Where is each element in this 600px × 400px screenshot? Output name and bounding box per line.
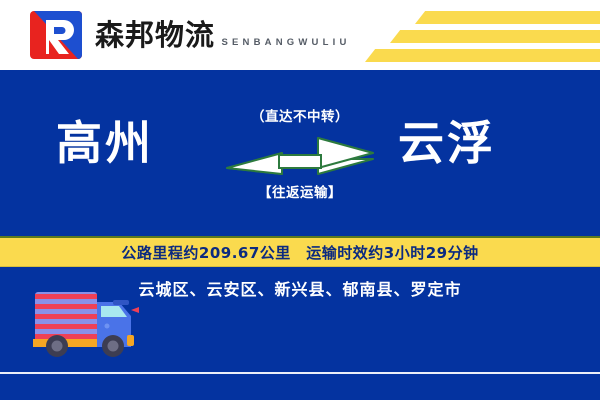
logistics-route-banner: 森邦物流 SENBANGWULIU 高州 （直达不中转） 【往返运输】 bbox=[0, 0, 600, 400]
banner-header: 森邦物流 SENBANGWULIU bbox=[0, 0, 600, 70]
brand-text: 森邦物流 SENBANGWULIU bbox=[95, 18, 351, 52]
senbang-r-logo-icon bbox=[28, 9, 84, 61]
brand-logo: 森邦物流 SENBANGWULIU bbox=[28, 9, 351, 61]
destination-city: 云浮 bbox=[398, 114, 496, 172]
origin-city: 高州 bbox=[56, 114, 154, 172]
info-bar-text: 公路里程约209.67公里 运输时效约3小时29分钟 bbox=[121, 242, 478, 263]
route-middle: （直达不中转） 【往返运输】 bbox=[215, 108, 385, 228]
delivery-truck-icon bbox=[27, 286, 147, 362]
stripe-1 bbox=[415, 11, 600, 24]
route-section: 高州 （直达不中转） 【往返运输】 云浮 bbox=[0, 70, 600, 236]
header-stripes-decoration bbox=[340, 0, 600, 70]
stripe-3 bbox=[365, 49, 600, 62]
bottom-divider bbox=[0, 372, 600, 374]
brand-name-en: SENBANGWULIU bbox=[221, 37, 350, 48]
coverage-area-text: 云城区、云安区、新兴县、郁南县、罗定市 bbox=[138, 276, 461, 300]
bidirectional-arrow-icon bbox=[215, 134, 385, 178]
info-bar: 公路里程约209.67公里 运输时效约3小时29分钟 bbox=[0, 236, 600, 267]
roundtrip-note: 【往返运输】 bbox=[215, 184, 385, 202]
stripe-2 bbox=[390, 30, 600, 43]
direct-note: （直达不中转） bbox=[215, 108, 385, 126]
brand-name-cn: 森邦物流 bbox=[95, 18, 215, 52]
